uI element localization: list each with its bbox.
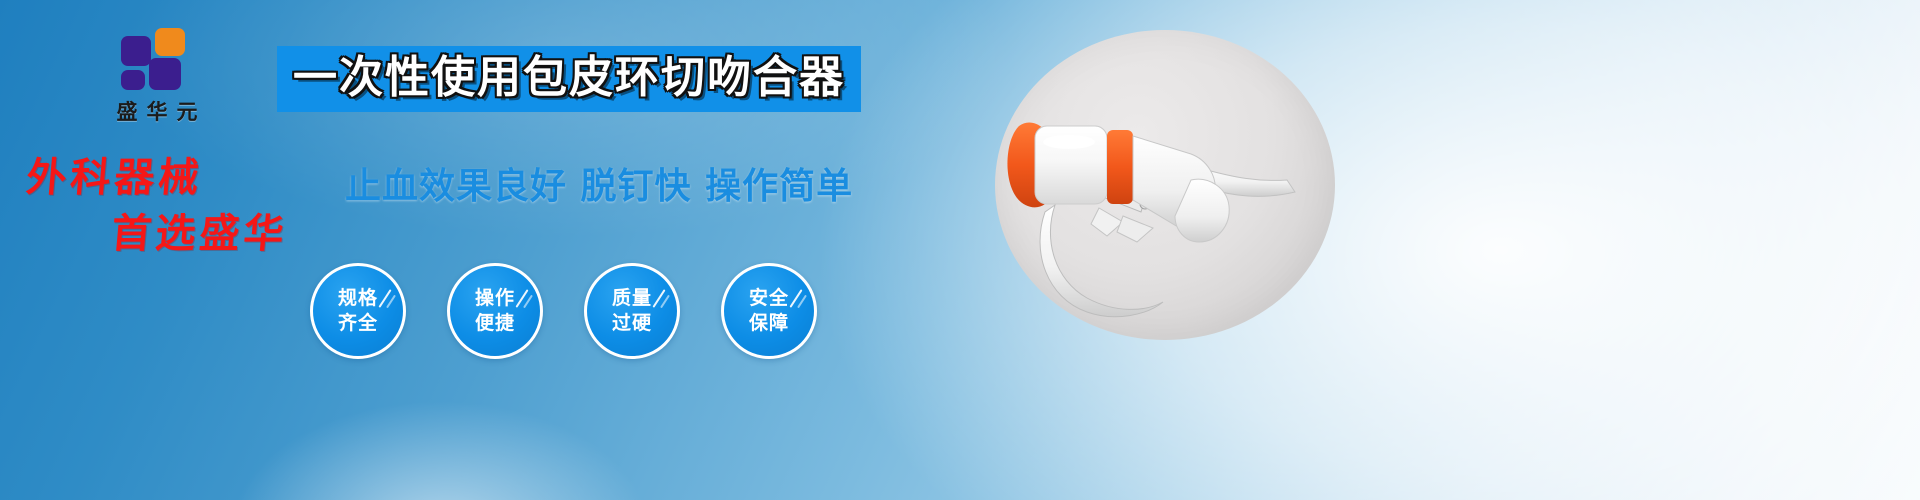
feature-label-line2: 保障 [749, 311, 789, 336]
product-title-band: 一次性使用包皮环切吻合器 [277, 46, 861, 112]
feature-label-line1: 质量 [612, 286, 652, 311]
slash-decor-icon [523, 295, 533, 309]
feature-label-line1: 操作 [475, 286, 515, 311]
brand-name: 盛华元 [62, 96, 252, 126]
slash-decor-icon [386, 295, 396, 309]
slash-decor-icon [797, 295, 807, 309]
product-subtitle: 止血效果良好 脱钉快 操作简单 [345, 165, 853, 209]
circumcision-stapler-icon [995, 30, 1335, 340]
slogan-line-1: 外科器械 [18, 152, 353, 204]
slash-decor-icon [660, 295, 670, 309]
background-glow-bottom-left [230, 400, 650, 500]
red-calligraphy-slogan: 外科器械 首选盛华 [13, 152, 352, 260]
feature-circle-safety[interactable]: 安全 保障 [721, 263, 817, 359]
product-image [995, 30, 1335, 340]
feature-label-line2: 过硬 [612, 311, 652, 336]
feature-circle-list: 规格 齐全 操作 便捷 质量 过硬 安全 保障 [310, 263, 817, 359]
page-title: 一次性使用包皮环切吻合器 [293, 53, 845, 103]
feature-label-line1: 安全 [749, 286, 789, 311]
feature-circle-specs[interactable]: 规格 齐全 [310, 263, 406, 359]
promo-banner: 盛华元 外科器械 首选盛华 一次性使用包皮环切吻合器 止血效果良好 脱钉快 操作… [0, 0, 1920, 500]
logo-block-4 [121, 70, 145, 90]
slogan-line-2: 首选盛华 [13, 208, 348, 260]
logo-block-1 [121, 36, 151, 66]
feature-circle-quality[interactable]: 质量 过硬 [584, 263, 680, 359]
logo-block-2 [155, 28, 185, 56]
brand-logo: 盛华元 [62, 28, 252, 126]
feature-label-line2: 齐全 [338, 311, 378, 336]
logo-mark-icon [121, 28, 193, 90]
logo-block-3 [149, 58, 181, 90]
feature-label-line2: 便捷 [475, 311, 515, 336]
feature-circle-operation[interactable]: 操作 便捷 [447, 263, 543, 359]
feature-label-line1: 规格 [338, 286, 378, 311]
